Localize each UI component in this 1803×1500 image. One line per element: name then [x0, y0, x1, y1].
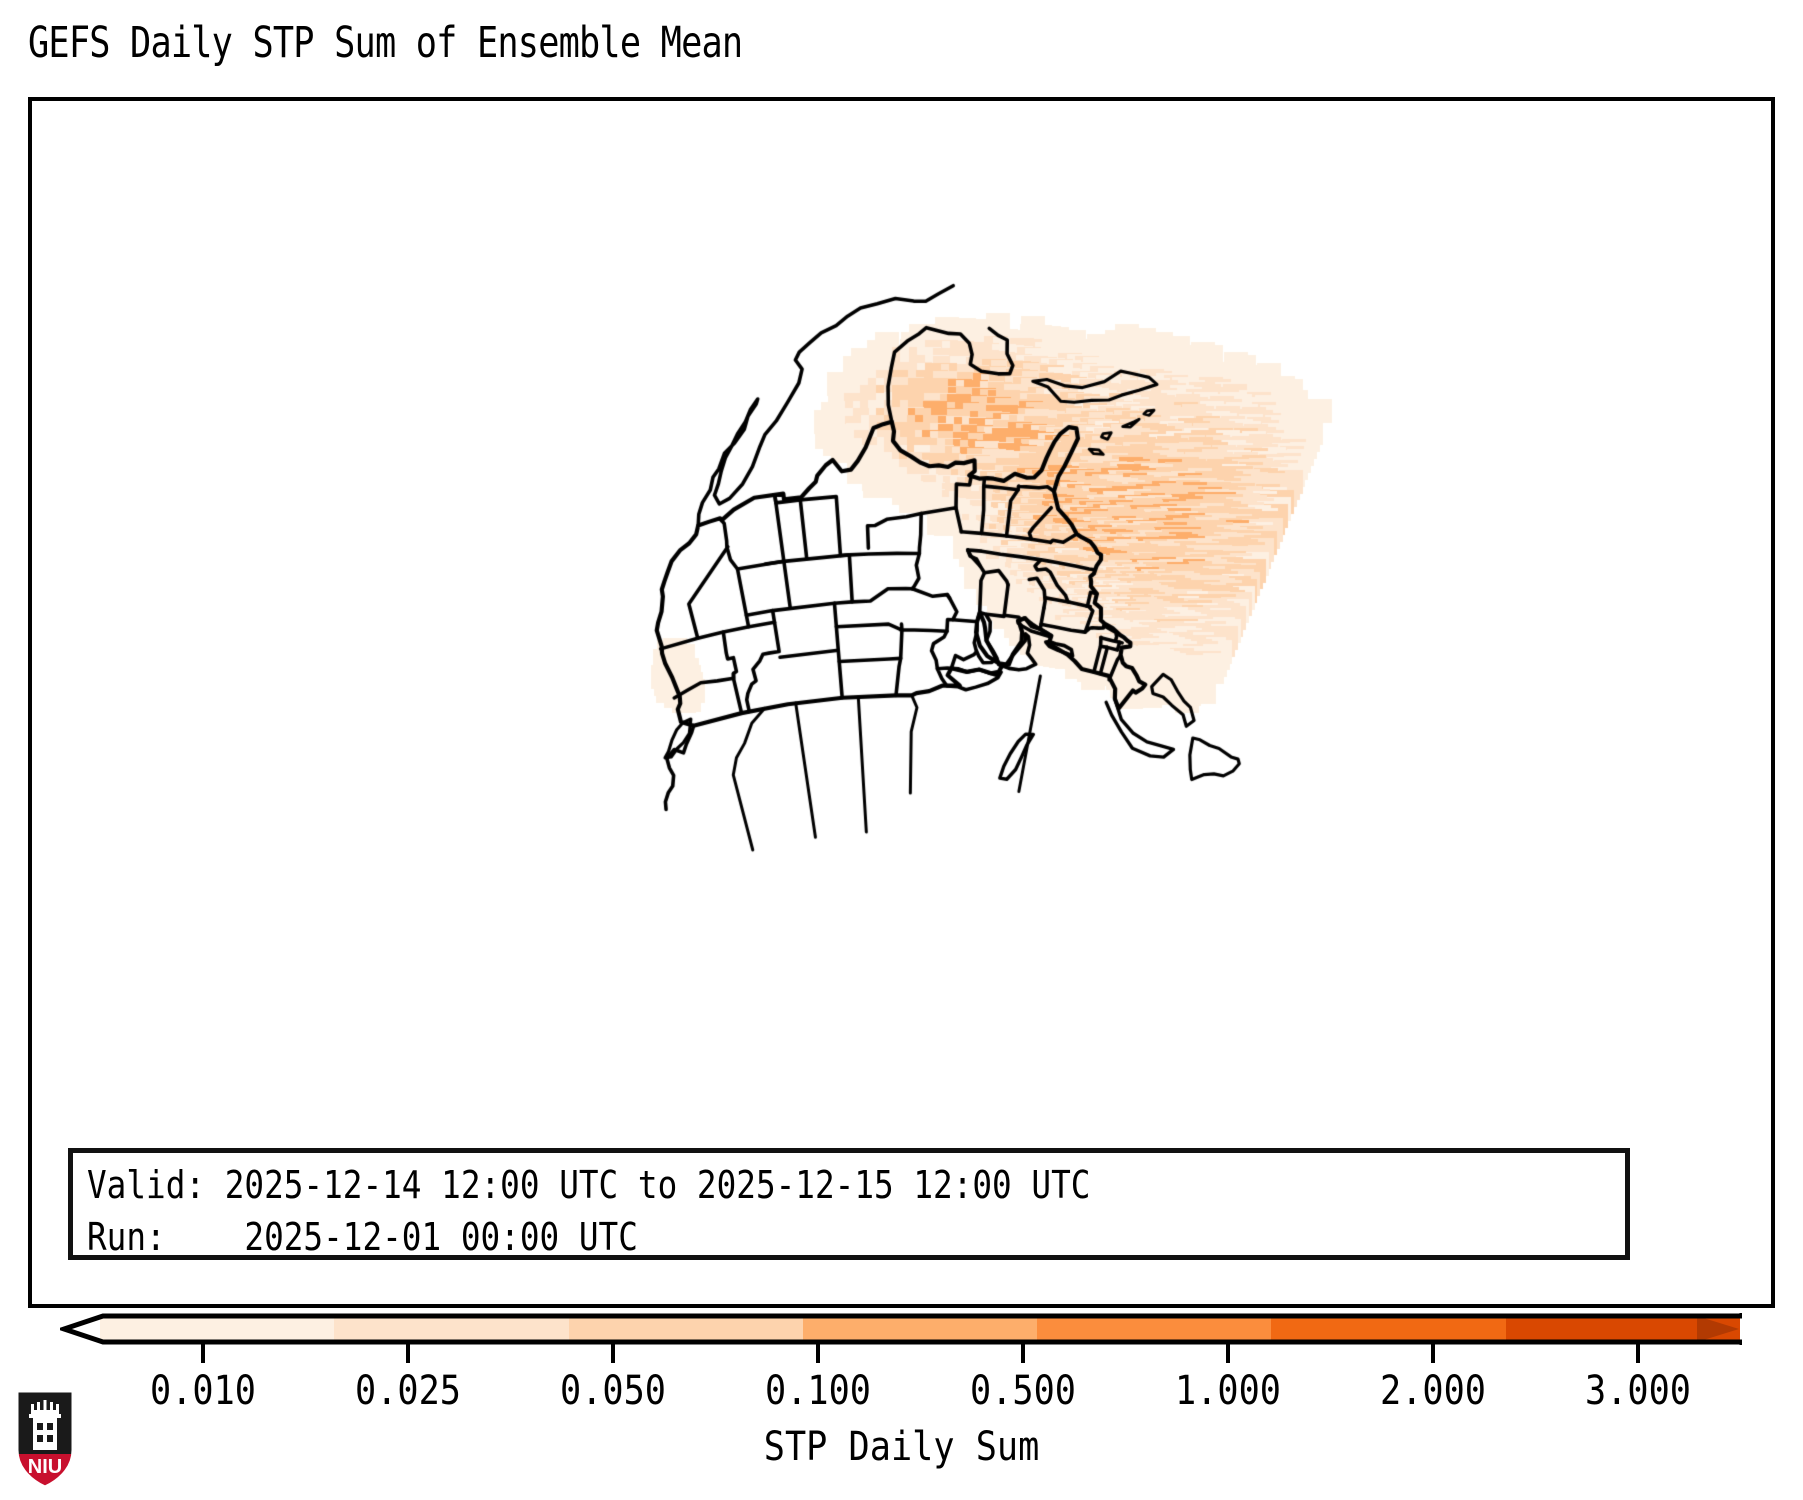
- colorbar-tick-3: [816, 1342, 820, 1363]
- run-time-text: Run: 2025-12-01 00:00 UTC: [87, 1211, 1410, 1263]
- colorbar-tick-labels: 0.0100.0250.0500.1000.5001.0002.0003.000: [0, 1368, 1803, 1418]
- colorbar-tick-5: [1226, 1342, 1230, 1363]
- map-plot-area: [28, 97, 1775, 1308]
- colorbar-band-0: [100, 1316, 334, 1342]
- valid-time-text: Valid: 2025-12-14 12:00 UTC to 2025-12-1…: [87, 1159, 1410, 1211]
- colorbar-tick-label-7: 3.000: [1585, 1368, 1691, 1414]
- colorbar-band-5: [1271, 1316, 1505, 1342]
- colorbar-tick-4: [1021, 1342, 1025, 1363]
- colorbar-axis-label: STP Daily Sum: [0, 1424, 1803, 1470]
- colorbar-band-2: [569, 1316, 803, 1342]
- colorbar-tick-label-5: 1.000: [1175, 1368, 1281, 1414]
- colorbar-tick-7: [1636, 1342, 1640, 1363]
- colorbar-tick-label-4: 0.500: [970, 1368, 1076, 1414]
- colorbar-band-4: [1037, 1316, 1271, 1342]
- colorbar-tick-label-6: 2.000: [1380, 1368, 1486, 1414]
- colorbar-tick-6: [1431, 1342, 1435, 1363]
- map-boundaries-layer: [32, 101, 1771, 1304]
- colorbar-bands: [100, 1316, 1740, 1342]
- page-title: GEFS Daily STP Sum of Ensemble Mean: [28, 18, 742, 68]
- colorbar-extend-low-arrow: [63, 1316, 101, 1342]
- colorbar-tick-1: [406, 1342, 410, 1363]
- colorbar-ticks: [0, 1342, 1803, 1364]
- colorbar-band-1: [334, 1316, 568, 1342]
- colorbar-tick-label-3: 0.100: [765, 1368, 871, 1414]
- colorbar-tick-label-2: 0.050: [560, 1368, 666, 1414]
- colorbar-band-3: [803, 1316, 1037, 1342]
- niu-logo-text: NIU: [28, 1456, 62, 1478]
- niu-tower-icon: [29, 1400, 61, 1450]
- niu-logo: NIU: [14, 1388, 76, 1490]
- valid-run-info-box: Valid: 2025-12-14 12:00 UTC to 2025-12-1…: [68, 1148, 1630, 1260]
- colorbar-tick-0: [201, 1342, 205, 1363]
- colorbar-tick-label-0: 0.010: [150, 1368, 256, 1414]
- colorbar-extend-high-arrow: [1697, 1316, 1739, 1342]
- colorbar-axis-label-text: STP Daily Sum: [764, 1424, 1040, 1470]
- colorbar-tick-2: [611, 1342, 615, 1363]
- colorbar-tick-label-1: 0.025: [355, 1368, 461, 1414]
